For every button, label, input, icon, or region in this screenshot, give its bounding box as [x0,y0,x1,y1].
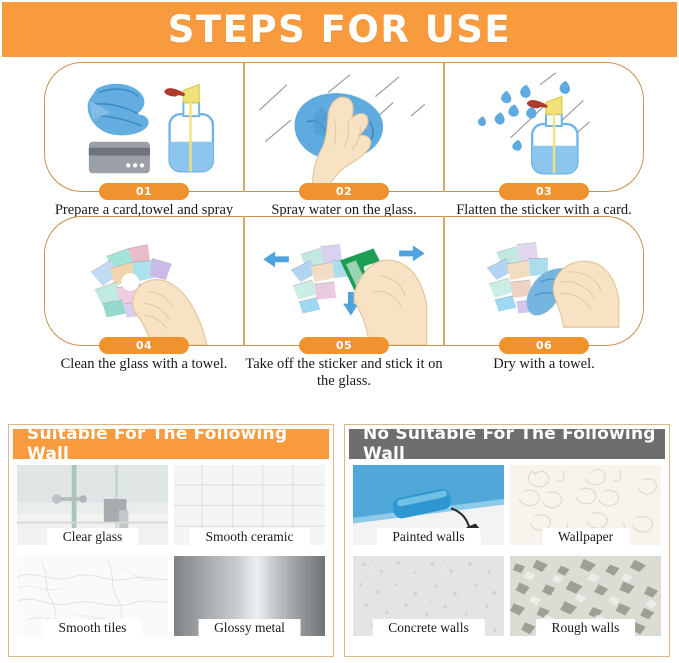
step-badge-05: 05 [299,337,389,354]
surface-compatibility-section: Suitable For The Following Wall [8,424,671,657]
tile-glossy-metal: Glossy metal [174,556,325,641]
step-card-04: 04 [44,216,244,346]
step-card-06: 06 [444,216,644,346]
tile-smooth-ceramic: Smooth ceramic [174,465,325,550]
tile-label-smooth-tiles: Smooth tiles [43,619,143,637]
tile-painted-walls: Painted walls [353,465,504,550]
tile-label-clear-glass: Clear glass [47,528,139,546]
tile-label-smooth-ceramic: Smooth ceramic [189,528,309,546]
unsuitable-panel-header: No Suitable For The Following Wall [349,429,665,459]
step-caption-06: Dry with a towel. [444,356,644,373]
step-02-illustration [245,63,443,191]
tile-rough-walls: Rough walls [510,556,661,641]
suitable-panel-title: Suitable For The Following Wall [27,424,329,464]
steps-row-1: 01 [44,62,644,192]
tile-smooth-tiles: Smooth tiles [17,556,168,641]
step-badge-06: 06 [499,337,589,354]
steps-row-2: 04 [44,216,644,346]
unsuitable-tile-grid: Painted walls [349,459,665,645]
tile-clear-glass: Clear glass [17,465,168,550]
step-badge-04: 04 [99,337,189,354]
step-caption-05: Take off the sticker and stick it on the… [244,356,444,389]
tile-label-glossy-metal: Glossy metal [198,619,301,637]
step-card-05: 05 [244,216,444,346]
tile-label-wallpaper: Wallpaper [542,528,629,546]
tile-label-rough-walls: Rough walls [536,619,636,637]
tile-concrete-walls: Concrete walls [353,556,504,641]
suitable-tile-grid: Clear glass Smooth ceramic [13,459,329,645]
step-04-illustration [45,217,243,345]
tile-wallpaper: Wallpaper [510,465,661,550]
step-caption-04: Clean the glass with a towel. [44,356,244,373]
page-title: STEPS FOR USE [168,11,511,48]
infographic-page: STEPS FOR USE [0,0,679,663]
step-card-02: 02 [244,62,444,192]
tile-label-concrete-walls: Concrete walls [372,619,485,637]
suitable-panel: Suitable For The Following Wall [8,424,334,657]
step-03-illustration [445,63,643,191]
step-badge-02: 02 [299,183,389,200]
unsuitable-panel: No Suitable For The Following Wall Paint [344,424,670,657]
unsuitable-panel-title: No Suitable For The Following Wall [363,424,665,464]
step-card-01: 01 [44,62,244,192]
steps-section: 01 [44,62,644,346]
tile-label-painted-walls: Painted walls [376,528,480,546]
header-banner: STEPS FOR USE [0,0,679,57]
step-06-illustration [445,217,643,345]
step-card-03: 03 [444,62,644,192]
step-badge-01: 01 [99,183,189,200]
step-01-illustration [45,63,243,191]
step-badge-03: 03 [499,183,589,200]
suitable-panel-header: Suitable For The Following Wall [13,429,329,459]
step-05-illustration [245,217,443,345]
